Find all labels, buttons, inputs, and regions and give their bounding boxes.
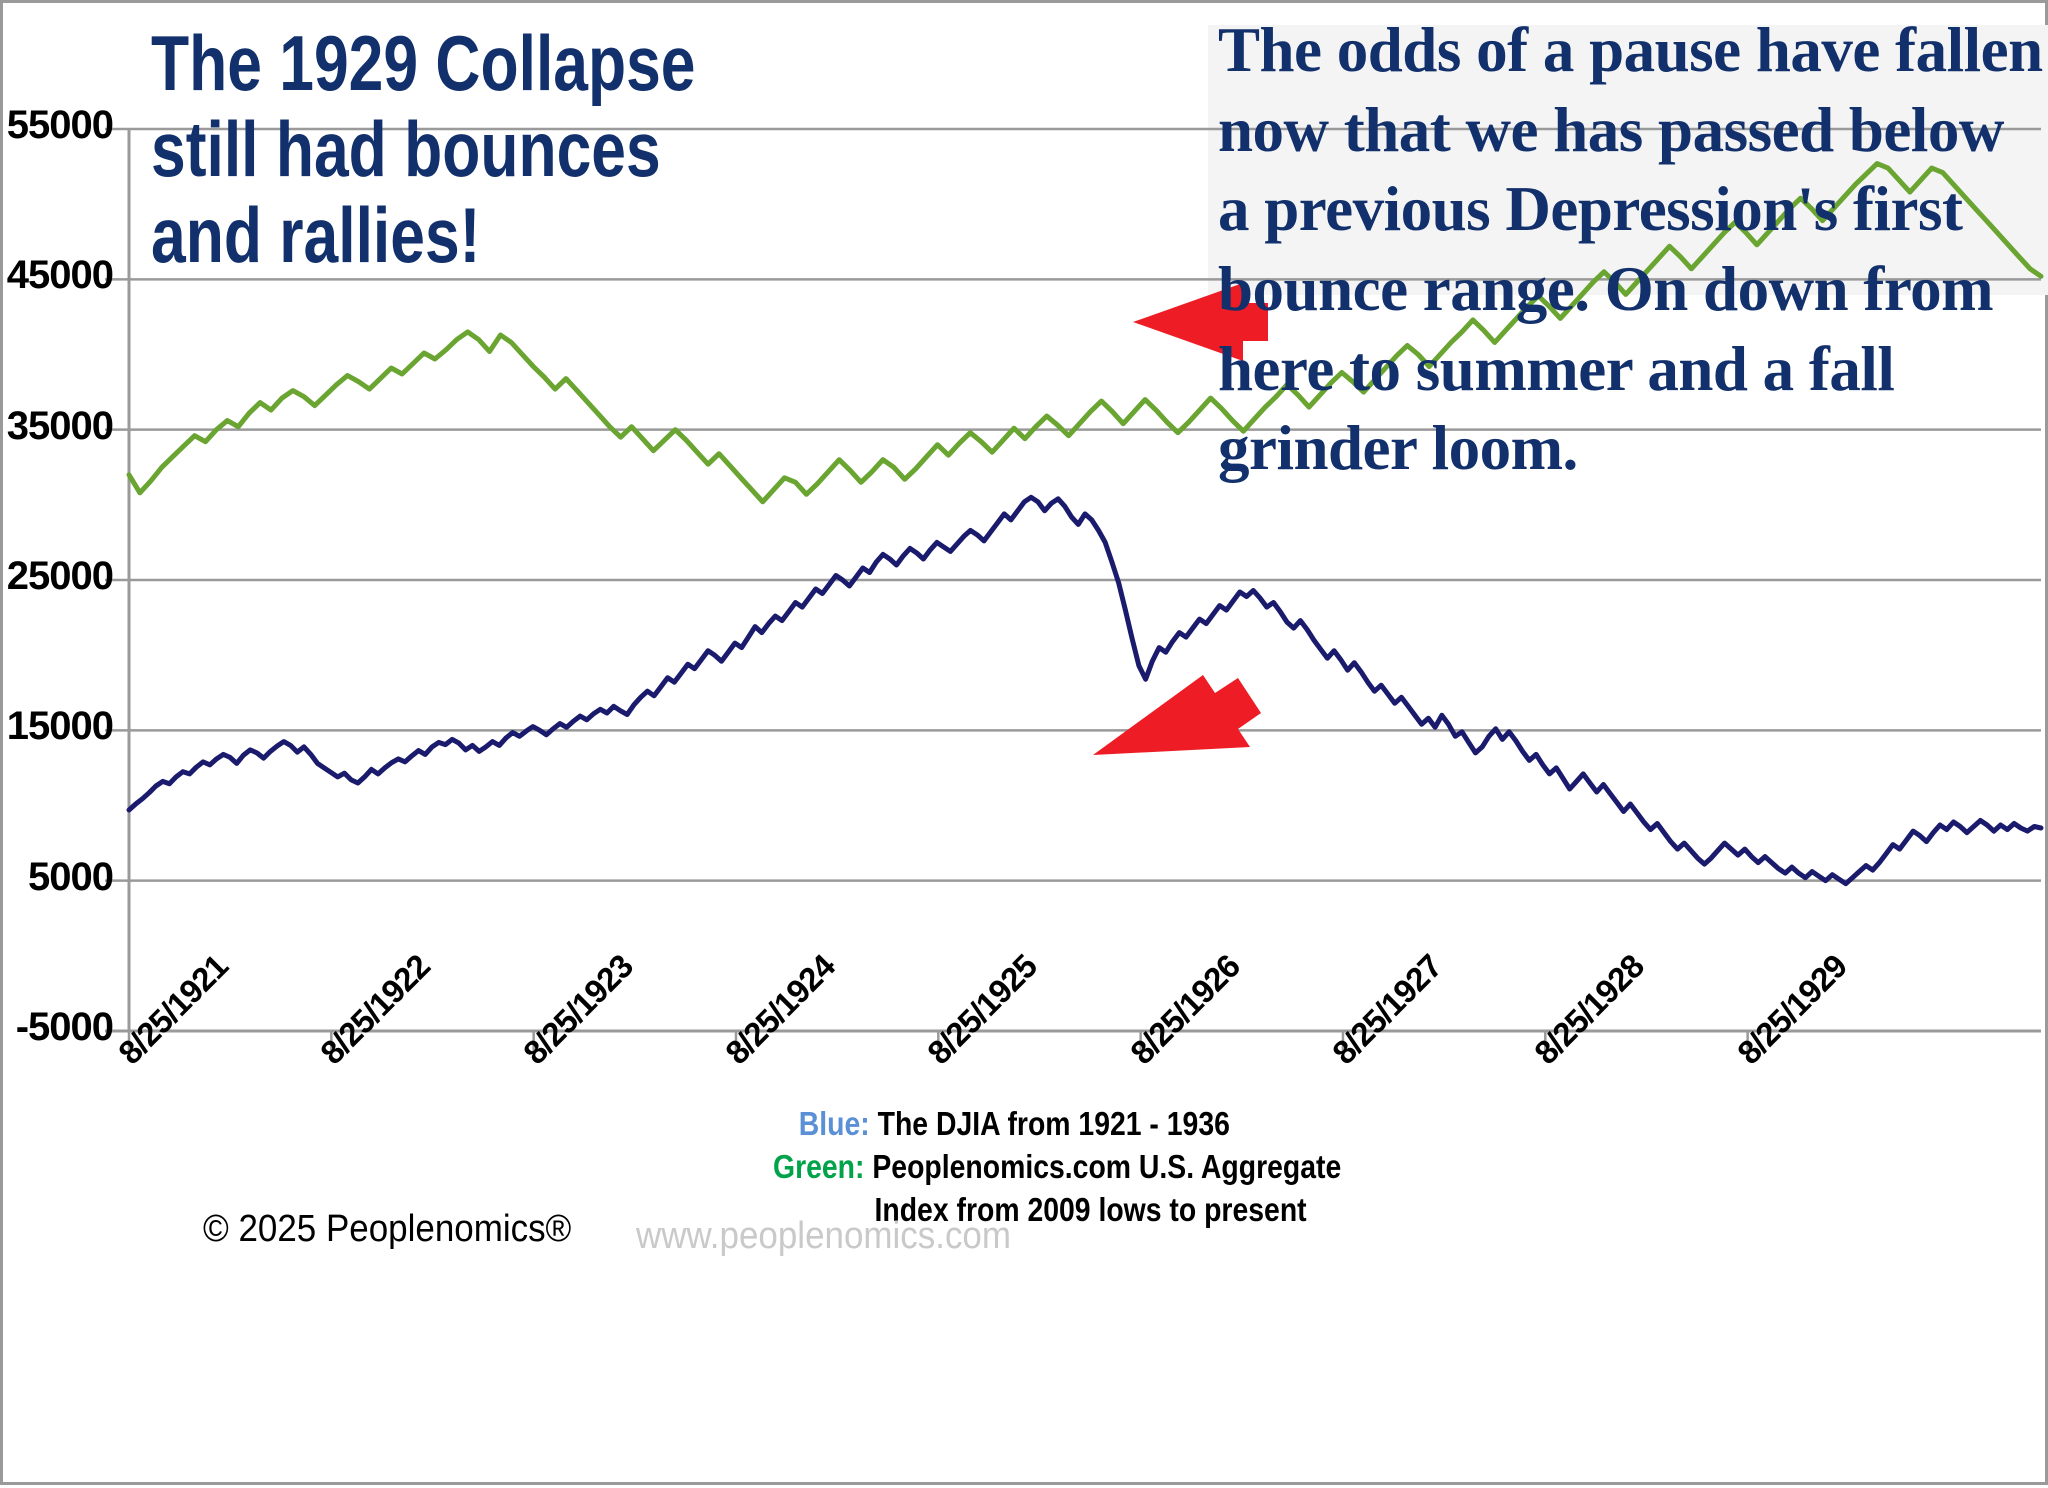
y-axis-tick-label: 35000 [3,404,113,449]
y-axis-tick-label: 15000 [3,704,113,749]
legend-key-green: Green: [773,1148,864,1185]
chart-frame: 55000450003500025000150005000-5000 8/25/… [0,0,2048,1485]
y-axis-tick-label: 5000 [3,855,113,900]
legend-label-green: Peoplenomics.com U.S. Aggregate [872,1148,1341,1185]
watermark: www.peoplenomics.com [636,1215,1011,1258]
legend-row-green: Green: Peoplenomics.com U.S. Aggregate [773,1146,1401,1189]
red-arrow-blue-icon [1093,675,1261,755]
chart-title-line-1: The 1929 Collapse [151,21,727,107]
y-axis-tick-label: 45000 [3,253,113,298]
series-line-blue [129,497,2041,883]
copyright-notice: © 2025 Peoplenomics® [203,1208,571,1251]
chart-title: The 1929 Collapsestill had bouncesand ra… [151,21,727,278]
y-axis-tick-label: -5000 [3,1005,113,1050]
legend-label-blue: The DJIA from 1921 - 1936 [878,1105,1230,1142]
chart-legend: Blue: The DJIA from 1921 - 1936 Green: P… [773,1103,1401,1232]
legend-key-blue: Blue: [799,1105,870,1142]
legend-row-blue: Blue: The DJIA from 1921 - 1936 [773,1103,1401,1146]
y-axis-tick-label: 55000 [3,103,113,148]
annotation-text: The odds of a pause have fallen now that… [1218,11,2048,489]
chart-title-line-3: and rallies! [151,193,727,279]
y-axis-tick-label: 25000 [3,554,113,599]
chart-title-line-2: still had bounces [151,107,727,193]
